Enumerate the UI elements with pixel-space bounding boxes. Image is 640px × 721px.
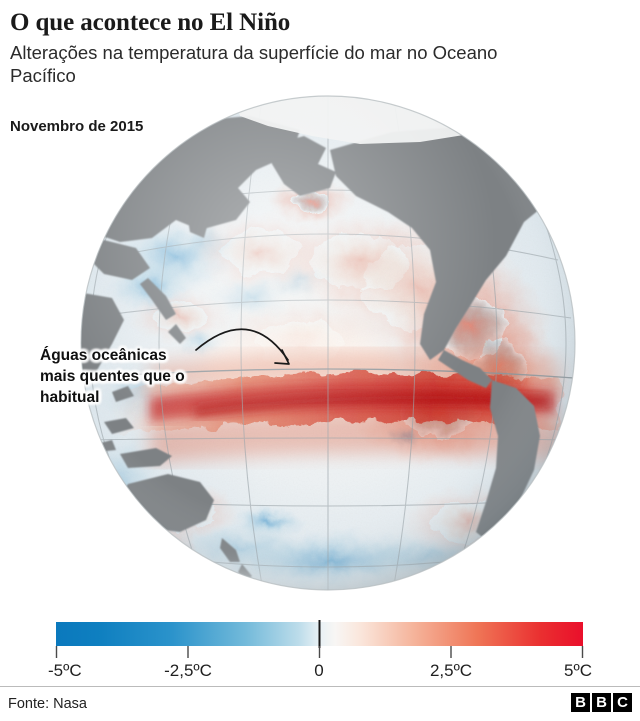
legend-tick-label-2: -2,5ºC <box>164 661 212 680</box>
globe-sphere <box>54 92 602 597</box>
bbc-letter-1: B <box>571 693 590 712</box>
legend-ticks <box>57 646 583 658</box>
bbc-logo: B B C <box>571 693 632 712</box>
legend-tick-label-3: 0 <box>314 661 323 680</box>
legend-tick-label-5: 5ºC <box>564 661 592 680</box>
page-subtitle: Alterações na temperatura da superfície … <box>10 41 530 87</box>
bbc-letter-2: B <box>592 693 611 712</box>
header: O que acontece no El Niño Alterações na … <box>10 8 630 87</box>
legend-tick-label-1: -5ºC <box>48 661 82 680</box>
legend-tick-label-4: 2,5ºC <box>430 661 472 680</box>
footer: Fonte: Nasa B B C <box>0 686 640 721</box>
bbc-letter-3: C <box>613 693 632 712</box>
page-title: O que acontece no El Niño <box>10 8 630 38</box>
globe-visualization <box>0 92 640 597</box>
color-legend: -5ºC -2,5ºC 0 2,5ºC 5ºC <box>0 612 640 682</box>
source-label: Fonte: Nasa <box>8 696 87 712</box>
